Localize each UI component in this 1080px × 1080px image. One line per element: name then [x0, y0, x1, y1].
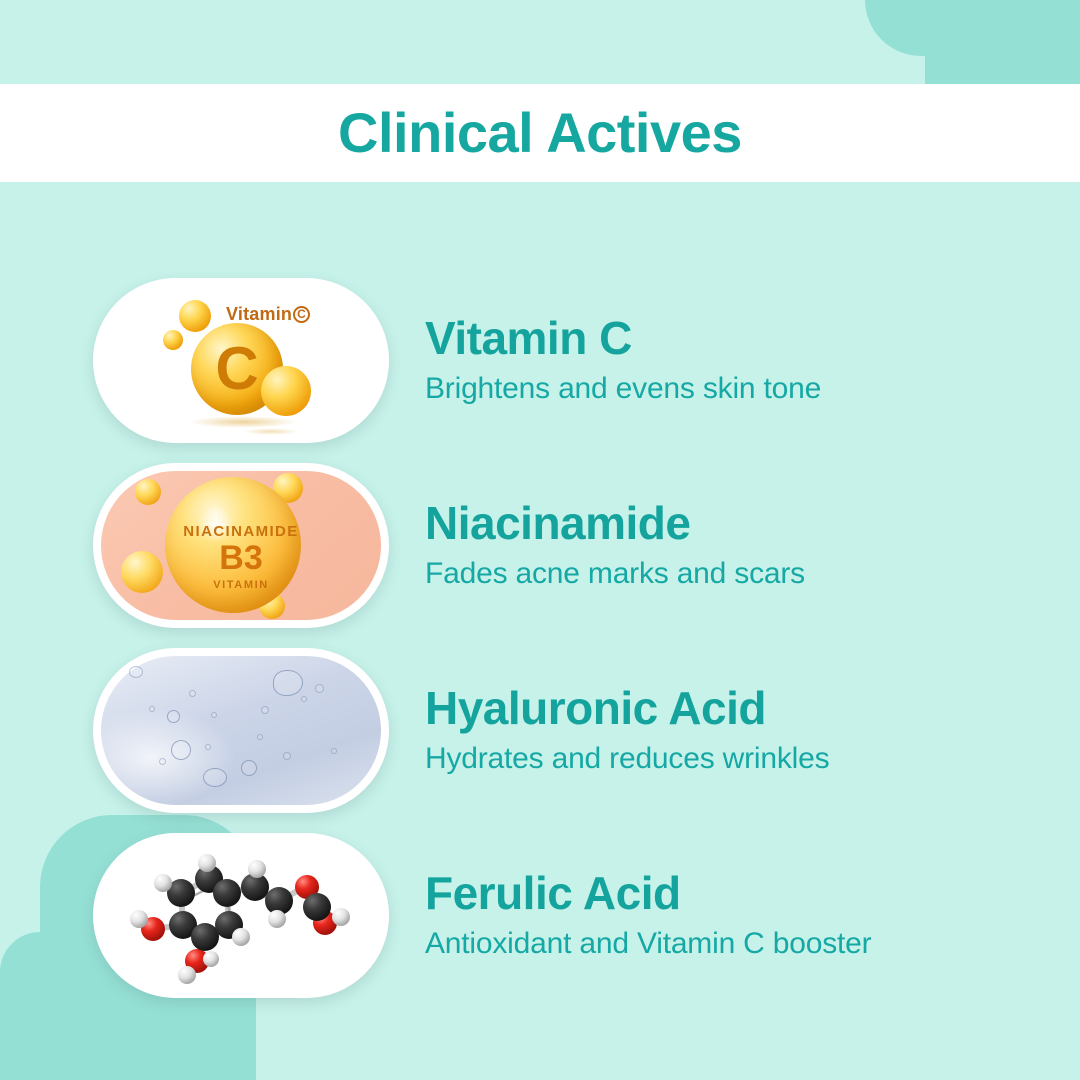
ingredient-text-ferulic-acid: Ferulic Acid Antioxidant and Vitamin C b… — [389, 869, 871, 962]
corner-decoration-top-right — [925, 0, 1080, 88]
ingredient-text-vitamin-c: Vitamin C Brightens and evens skin tone — [389, 314, 821, 407]
hyaluronic-gel-bubbles-icon — [93, 648, 389, 813]
ingredient-name: Ferulic Acid — [425, 869, 871, 919]
bubble-icon — [135, 479, 161, 505]
ingredient-card-vitamin-c: VitaminC C — [93, 278, 389, 443]
ingredient-text-hyaluronic-acid: Hyaluronic Acid Hydrates and reduces wri… — [389, 684, 829, 777]
ingredient-name: Vitamin C — [425, 314, 821, 364]
list-item: Hyaluronic Acid Hydrates and reduces wri… — [0, 638, 1080, 823]
list-item: VitaminC C Vitamin C Brightens and evens… — [0, 268, 1080, 453]
ferulic-acid-molecule-icon — [93, 833, 389, 998]
registered-mark-icon: C — [293, 306, 310, 323]
molecule-diagram — [93, 833, 389, 998]
ingredient-description: Brightens and evens skin tone — [425, 370, 821, 408]
vitamin-c-droplet-icon: VitaminC C — [93, 278, 389, 443]
ingredient-description: Hydrates and reduces wrinkles — [425, 740, 829, 778]
ingredient-name: Hyaluronic Acid — [425, 684, 829, 734]
page-title: Clinical Actives — [338, 105, 742, 161]
ingredient-description: Antioxidant and Vitamin C booster — [425, 925, 871, 963]
ingredient-name: Niacinamide — [425, 499, 805, 549]
ingredient-text-niacinamide: Niacinamide Fades acne marks and scars — [389, 499, 805, 592]
ingredient-description: Fades acne marks and scars — [425, 555, 805, 593]
niacinamide-card-label-top: NIACINAMIDE — [93, 523, 389, 540]
ingredient-list: VitaminC C Vitamin C Brightens and evens… — [0, 268, 1080, 1008]
bubble-icon — [163, 330, 183, 350]
header-band: Clinical Actives — [0, 84, 1080, 182]
bubble-icon — [261, 366, 311, 416]
ingredient-card-niacinamide: NIACINAMIDE B3 VITAMIN — [93, 463, 389, 628]
corner-decoration-top-right-notch — [865, 0, 925, 56]
niacinamide-card-label-bottom: VITAMIN — [93, 579, 389, 591]
ingredient-card-ferulic-acid — [93, 833, 389, 998]
ingredient-card-hyaluronic-acid — [93, 648, 389, 813]
vitamin-c-card-label: VitaminC — [226, 304, 310, 325]
list-item: Ferulic Acid Antioxidant and Vitamin C b… — [0, 823, 1080, 1008]
list-item: NIACINAMIDE B3 VITAMIN Niacinamide Fades… — [0, 453, 1080, 638]
niacinamide-card-label-mid: B3 — [93, 541, 389, 577]
niacinamide-b3-sphere-icon: NIACINAMIDE B3 VITAMIN — [93, 463, 389, 628]
